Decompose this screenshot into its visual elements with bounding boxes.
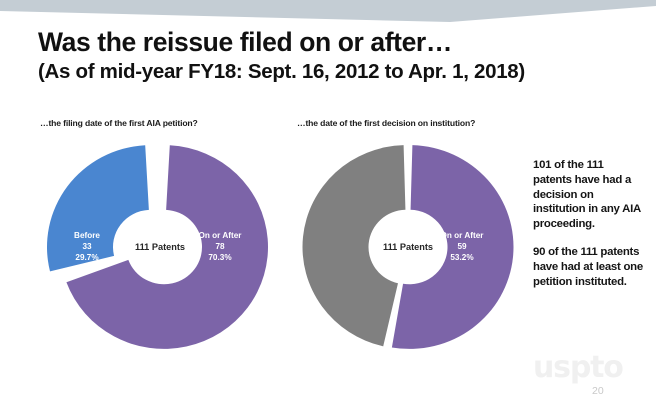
- donut-chart-institution-decision: 111 Patents On or After 59 53.2%: [296, 140, 528, 355]
- chart-subtitle-right: …the date of the first decision on insti…: [297, 118, 475, 128]
- slide-canvas: Was the reissue filed on or after… (As o…: [0, 0, 656, 410]
- title-line-primary: Was the reissue filed on or after…: [38, 28, 638, 58]
- donut-label-before-value: 33: [74, 242, 100, 253]
- donut-chart-filing-date: 111 Patents Before 33 29.7% On or After …: [35, 140, 285, 355]
- page-number: 20: [592, 385, 604, 397]
- donut-label-on-or-after-2-name: On or After: [441, 231, 484, 242]
- donut-label-on-or-after: On or After 78 70.3%: [199, 231, 242, 263]
- donut-label-on-or-after-percent: 70.3%: [199, 252, 242, 263]
- page-title: Was the reissue filed on or after… (As o…: [38, 28, 638, 84]
- donut-label-before-name: Before: [74, 231, 100, 242]
- donut-label-before-percent: 29.7%: [74, 252, 100, 263]
- donut-label-before: Before 33 29.7%: [74, 231, 100, 263]
- header-band-shape: [0, 0, 656, 30]
- donut-center-label: 111 Patents: [135, 242, 185, 252]
- chart-subtitle-left: …the filing date of the first AIA petiti…: [40, 118, 198, 128]
- donut-label-on-or-after-2-percent: 53.2%: [441, 252, 484, 263]
- donut-center-label-2: 111 Patents: [383, 242, 433, 252]
- donut-label-on-or-after-value: 78: [199, 242, 242, 253]
- donut-label-on-or-after-2-value: 59: [441, 242, 484, 253]
- note-paragraph-2: 90 of the 111 patents have had at least …: [533, 245, 645, 289]
- donut-label-on-or-after-2: On or After 59 53.2%: [441, 231, 484, 263]
- header-band: [0, 0, 656, 30]
- uspto-logo: uspto: [533, 352, 631, 384]
- uspto-logo-text: uspto: [533, 352, 631, 384]
- title-line-secondary: (As of mid-year FY18: Sept. 16, 2012 to …: [38, 60, 638, 84]
- note-paragraph-1: 101 of the 111 patents have had a decisi…: [533, 158, 645, 232]
- notes-panel: 101 of the 111 patents have had a decisi…: [533, 158, 645, 290]
- donut-label-on-or-after-name: On or After: [199, 231, 242, 242]
